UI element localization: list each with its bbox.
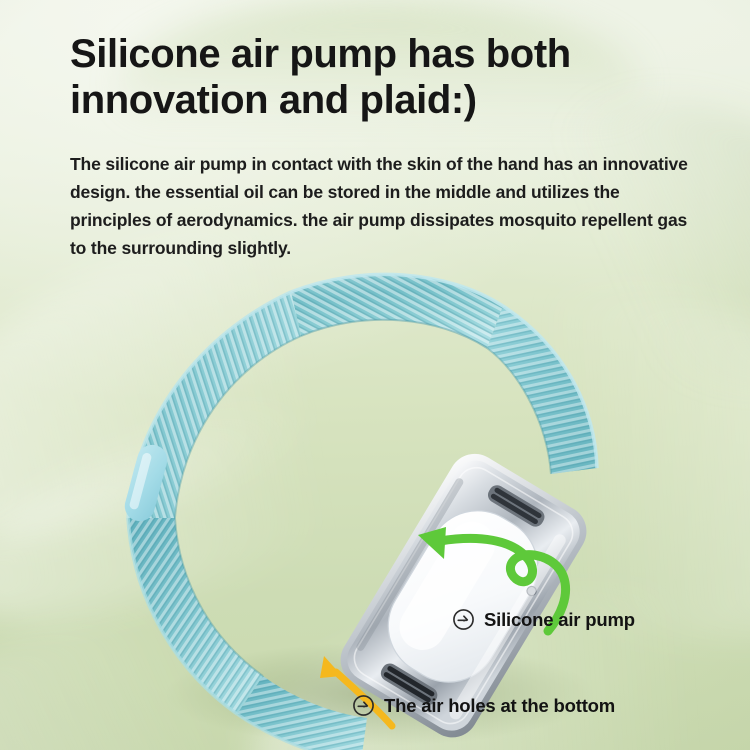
product-image-bracelet: [95, 262, 655, 732]
circled-right-arrow-icon: [352, 694, 375, 717]
callout-air-holes-bottom[interactable]: The air holes at the bottom: [352, 694, 615, 717]
callout-silicone-air-pump[interactable]: Silicone air pump: [452, 608, 635, 631]
product-feature-card: Silicone air pump has both innovation an…: [0, 0, 750, 750]
circled-right-arrow-icon: [452, 608, 475, 631]
callout-label: The air holes at the bottom: [384, 695, 615, 717]
body-paragraph: The silicone air pump in contact with th…: [70, 150, 695, 262]
callout-label: Silicone air pump: [484, 609, 635, 631]
headline: Silicone air pump has both innovation an…: [70, 32, 690, 123]
